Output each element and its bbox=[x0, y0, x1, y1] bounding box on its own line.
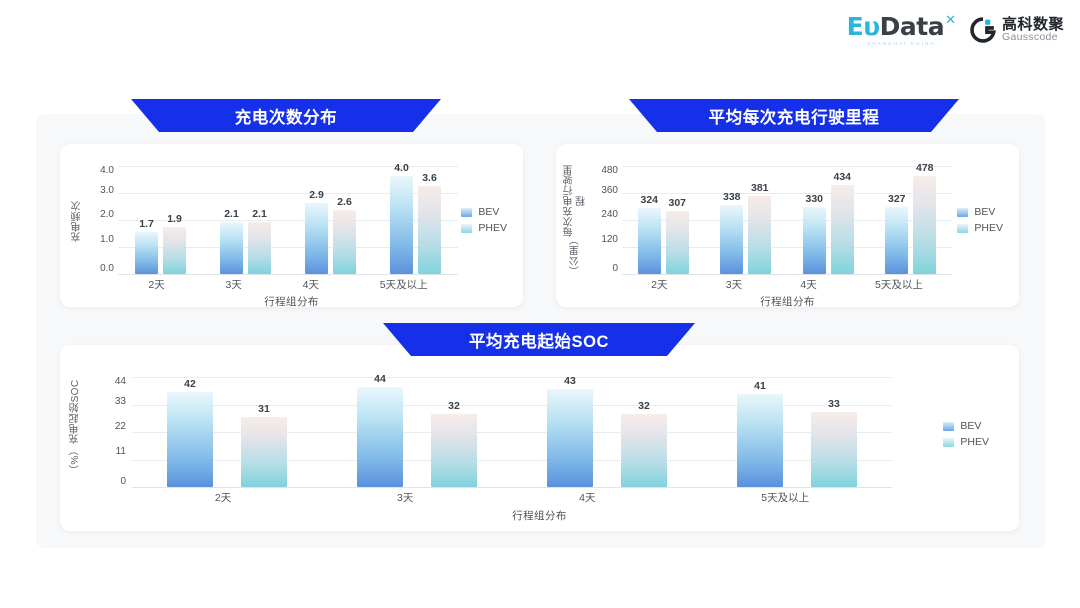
y-tick: 360 bbox=[601, 186, 618, 196]
x-axis-category-label: 4天 bbox=[303, 277, 319, 292]
evdata-ev-text: Eυ bbox=[847, 14, 880, 39]
bar-rect bbox=[811, 412, 857, 487]
chart-title-charge-frequency: 充电次数分布 bbox=[131, 99, 441, 132]
y-axis-label-line2: （公里） bbox=[570, 239, 583, 276]
bar-category-group: 4332 bbox=[547, 377, 667, 487]
bar-rect bbox=[431, 414, 477, 487]
x-axis-title-charge-frequency: 行程组分布 bbox=[60, 294, 523, 309]
y-tick: 33 bbox=[115, 397, 126, 407]
bar-value-label: 32 bbox=[638, 400, 650, 412]
x-axis-category-label: 3天 bbox=[726, 277, 742, 292]
gridline bbox=[118, 274, 458, 275]
bar-value-label: 478 bbox=[916, 162, 934, 174]
bar-value-label: 3.6 bbox=[422, 172, 437, 184]
bar-value-label: 381 bbox=[751, 182, 769, 194]
legend-item-phev[interactable]: PHEV bbox=[957, 222, 1003, 234]
bar-category-group: 4231 bbox=[167, 377, 287, 487]
x-axis-category-label: 4天 bbox=[800, 277, 816, 292]
chart-card-avg-start-soc: 充电起始SOC （%） 443322110 4231443243324133 2… bbox=[60, 345, 1019, 531]
y-axis-label-line1: 每次充电行驶里程 bbox=[564, 164, 589, 238]
x-axis-category-label: 3天 bbox=[397, 490, 413, 505]
bar-rect bbox=[390, 176, 413, 274]
legend-swatch-bev-icon bbox=[957, 208, 968, 217]
bar-value-label: 32 bbox=[448, 400, 460, 412]
x-axis-title-avg-range-per-charge: 行程组分布 bbox=[556, 294, 1019, 309]
slide-root: EυData✕ shanghai china 高科数聚 Gausscode 充电… bbox=[0, 0, 1080, 608]
bar-item-bev[interactable]: 1.7 bbox=[135, 166, 158, 274]
bar-category-group: 4133 bbox=[737, 377, 857, 487]
evdata-logo: EυData✕ shanghai china bbox=[847, 14, 956, 46]
bar-rect bbox=[418, 186, 441, 274]
legend-swatch-phev-icon bbox=[957, 224, 968, 233]
bar-item-phev[interactable]: 478 bbox=[913, 166, 936, 274]
bar-item-phev[interactable]: 434 bbox=[831, 166, 854, 274]
bar-category-group: 1.71.9 bbox=[135, 166, 186, 274]
bar-category-group: 4432 bbox=[357, 377, 477, 487]
bar-category-group: 2.92.6 bbox=[305, 166, 356, 274]
bar-category-group: 4.03.6 bbox=[390, 166, 441, 274]
bar-rect bbox=[248, 222, 271, 274]
bar-value-label: 1.9 bbox=[167, 213, 182, 225]
bar-item-phev[interactable]: 307 bbox=[666, 166, 689, 274]
plot-area-charge-frequency: 1.71.92.12.12.92.64.03.6 bbox=[118, 166, 458, 274]
bar-value-label: 42 bbox=[184, 378, 196, 390]
bar-rect bbox=[737, 394, 783, 487]
legend-swatch-phev-icon bbox=[461, 224, 472, 233]
bar-item-phev[interactable]: 1.9 bbox=[163, 166, 186, 274]
legend-item-bev[interactable]: BEV bbox=[943, 420, 989, 432]
bar-rect bbox=[748, 196, 771, 274]
legend-label-phev: PHEV bbox=[974, 222, 1003, 234]
bar-rect bbox=[831, 185, 854, 274]
gridline bbox=[132, 487, 892, 488]
gausscode-text: 高科数聚 Gausscode bbox=[1002, 17, 1064, 44]
bar-value-label: 4.0 bbox=[394, 162, 409, 174]
chart-title-avg-range-per-charge: 平均每次充电行驶里程 bbox=[629, 99, 959, 132]
bar-item-bev[interactable]: 2.9 bbox=[305, 166, 328, 274]
legend-label-bev: BEV bbox=[478, 206, 499, 218]
bar-category-group: 2.12.1 bbox=[220, 166, 271, 274]
evdata-data-text: Data bbox=[880, 14, 944, 39]
bar-item-phev[interactable]: 2.6 bbox=[333, 166, 356, 274]
bar-item-bev[interactable]: 2.1 bbox=[220, 166, 243, 274]
bar-rect bbox=[167, 392, 213, 487]
bar-value-label: 330 bbox=[805, 193, 823, 205]
bar-item-phev[interactable]: 381 bbox=[748, 166, 771, 274]
evdata-tagline: shanghai china bbox=[867, 41, 935, 46]
bar-item-bev[interactable]: 42 bbox=[167, 377, 213, 487]
bar-rect bbox=[547, 389, 593, 487]
bar-value-label: 41 bbox=[754, 380, 766, 392]
gausscode-en-label: Gausscode bbox=[1002, 32, 1064, 43]
plot-area-avg-start-soc: 4231443243324133 bbox=[132, 377, 892, 487]
y-axis-label-line2: （%） bbox=[70, 445, 83, 475]
bar-value-label: 324 bbox=[640, 194, 658, 206]
y-tick: 0 bbox=[120, 477, 126, 487]
legend-label-bev: BEV bbox=[974, 206, 995, 218]
bar-item-phev[interactable]: 32 bbox=[621, 377, 667, 487]
y-tick: 480 bbox=[601, 166, 618, 176]
x-axis-category-label: 2天 bbox=[215, 490, 231, 505]
bar-rect bbox=[720, 205, 743, 274]
bar-value-label: 434 bbox=[833, 171, 851, 183]
x-axis-category-label: 5天及以上 bbox=[380, 277, 428, 292]
bar-item-bev[interactable]: 43 bbox=[547, 377, 593, 487]
bar-value-label: 2.9 bbox=[309, 189, 324, 201]
legend-item-phev[interactable]: PHEV bbox=[943, 436, 989, 448]
bar-item-bev[interactable]: 44 bbox=[357, 377, 403, 487]
bar-item-bev[interactable]: 41 bbox=[737, 377, 783, 487]
evdata-x-icon: ✕ bbox=[945, 12, 956, 28]
legend-swatch-bev-icon bbox=[943, 422, 954, 431]
x-axis-category-label: 4天 bbox=[579, 490, 595, 505]
bar-category-group: 338381 bbox=[720, 166, 771, 274]
bar-item-bev[interactable]: 330 bbox=[803, 166, 826, 274]
bar-rect bbox=[163, 227, 186, 274]
bar-value-label: 307 bbox=[668, 197, 686, 209]
y-tick: 44 bbox=[115, 377, 126, 387]
legend-item-phev[interactable]: PHEV bbox=[461, 222, 507, 234]
legend-label-phev: PHEV bbox=[478, 222, 507, 234]
y-tick: 11 bbox=[116, 447, 126, 457]
bar-value-label: 2.1 bbox=[252, 208, 267, 220]
y-tick: 22 bbox=[115, 422, 126, 432]
y-tick: 3.0 bbox=[100, 186, 114, 196]
gausscode-logo: 高科数聚 Gausscode bbox=[970, 17, 1064, 44]
bar-value-label: 44 bbox=[374, 373, 386, 385]
evdata-wordmark: EυData✕ bbox=[847, 14, 956, 39]
legend-avg-range-per-charge: BEV PHEV bbox=[957, 206, 1003, 234]
legend-item-bev[interactable]: BEV bbox=[461, 206, 507, 218]
legend-avg-start-soc: BEV PHEV bbox=[943, 420, 989, 448]
bar-rect bbox=[666, 211, 689, 274]
bar-category-group: 330434 bbox=[803, 166, 854, 274]
y-axis-label-line1: 充电起始SOC bbox=[70, 379, 83, 443]
y-axis-label-avg-range-per-charge: 每次充电行驶里程 （公里） bbox=[564, 164, 589, 276]
x-axis-categories-charge-frequency: 2天3天4天5天及以上 bbox=[118, 277, 458, 292]
x-axis-category-label: 3天 bbox=[226, 277, 242, 292]
gausscode-cn-label: 高科数聚 bbox=[1002, 17, 1064, 33]
x-axis-category-label: 2天 bbox=[148, 277, 164, 292]
bar-item-phev[interactable]: 2.1 bbox=[248, 166, 271, 274]
x-axis-category-label: 2天 bbox=[651, 277, 667, 292]
y-tick: 2.0 bbox=[100, 210, 114, 220]
bar-rect bbox=[357, 387, 403, 487]
legend-charge-frequency: BEV PHEV bbox=[461, 206, 507, 234]
bar-rect bbox=[305, 203, 328, 274]
x-axis-title-avg-start-soc: 行程组分布 bbox=[60, 508, 1019, 523]
legend-label-phev: PHEV bbox=[960, 436, 989, 448]
chart-title-avg-start-soc: 平均充电起始SOC bbox=[383, 323, 695, 356]
legend-item-bev[interactable]: BEV bbox=[957, 206, 1003, 218]
x-axis-categories-avg-start-soc: 2天3天4天5天及以上 bbox=[132, 490, 892, 505]
bar-item-phev[interactable]: 31 bbox=[241, 377, 287, 487]
bar-item-bev[interactable]: 4.0 bbox=[390, 166, 413, 274]
bar-value-label: 43 bbox=[564, 375, 576, 387]
y-axis-label-avg-start-soc: 充电起始SOC （%） bbox=[70, 377, 83, 477]
gridline bbox=[622, 274, 952, 275]
legend-swatch-bev-icon bbox=[461, 208, 472, 217]
bar-item-bev[interactable]: 338 bbox=[720, 166, 743, 274]
bar-rect bbox=[241, 417, 287, 487]
bar-item-bev[interactable]: 327 bbox=[885, 166, 908, 274]
legend-swatch-phev-icon bbox=[943, 438, 954, 447]
bar-value-label: 31 bbox=[258, 403, 270, 415]
bar-category-group: 324307 bbox=[638, 166, 689, 274]
bar-value-label: 33 bbox=[828, 398, 840, 410]
x-axis-category-label: 5天及以上 bbox=[875, 277, 923, 292]
y-tick: 0 bbox=[612, 264, 618, 274]
bar-item-bev[interactable]: 324 bbox=[638, 166, 661, 274]
bar-rect bbox=[913, 176, 936, 274]
bar-value-label: 2.1 bbox=[224, 208, 239, 220]
bar-group-charge-frequency: 1.71.92.12.12.92.64.03.6 bbox=[118, 166, 458, 274]
bar-category-group: 327478 bbox=[885, 166, 936, 274]
plot-area-avg-range-per-charge: 324307338381330434327478 bbox=[622, 166, 952, 274]
bar-rect bbox=[220, 222, 243, 274]
bar-rect bbox=[621, 414, 667, 487]
y-tick: 240 bbox=[601, 210, 618, 220]
bar-rect bbox=[885, 207, 908, 274]
x-axis-categories-avg-range-per-charge: 2天3天4天5天及以上 bbox=[622, 277, 952, 292]
bar-rect bbox=[135, 232, 158, 274]
y-axis-label-charge-frequency: 充电频次 bbox=[72, 178, 85, 264]
y-axis-ticks-avg-start-soc: 443322110 bbox=[96, 377, 126, 487]
bar-value-label: 2.6 bbox=[337, 196, 352, 208]
y-tick: 120 bbox=[601, 235, 618, 245]
y-tick: 4.0 bbox=[100, 166, 114, 176]
y-axis-ticks-avg-range-per-charge: 4803602401200 bbox=[588, 166, 618, 274]
bar-item-phev[interactable]: 33 bbox=[811, 377, 857, 487]
bar-item-phev[interactable]: 3.6 bbox=[418, 166, 441, 274]
bar-group-avg-range-per-charge: 324307338381330434327478 bbox=[622, 166, 952, 274]
chart-card-charge-frequency: 充电频次 4.03.02.01.00.0 1.71.92.12.12.92.64… bbox=[60, 144, 523, 307]
legend-label-bev: BEV bbox=[960, 420, 981, 432]
bar-rect bbox=[333, 210, 356, 274]
gausscode-mark-icon bbox=[970, 17, 996, 43]
chart-card-avg-range-per-charge: 每次充电行驶里程 （公里） 4803602401200 324307338381… bbox=[556, 144, 1019, 307]
y-tick: 0.0 bbox=[100, 264, 114, 274]
bar-rect bbox=[638, 208, 661, 274]
bar-rect bbox=[803, 207, 826, 275]
bar-item-phev[interactable]: 32 bbox=[431, 377, 477, 487]
bar-value-label: 338 bbox=[723, 191, 741, 203]
y-tick: 1.0 bbox=[100, 235, 114, 245]
bar-group-avg-start-soc: 4231443243324133 bbox=[132, 377, 892, 487]
bar-value-label: 327 bbox=[888, 193, 906, 205]
brand-header: EυData✕ shanghai china 高科数聚 Gausscode bbox=[847, 14, 1064, 46]
bar-value-label: 1.7 bbox=[139, 218, 154, 230]
x-axis-category-label: 5天及以上 bbox=[761, 490, 809, 505]
y-axis-ticks-charge-frequency: 4.03.02.01.00.0 bbox=[84, 166, 114, 274]
